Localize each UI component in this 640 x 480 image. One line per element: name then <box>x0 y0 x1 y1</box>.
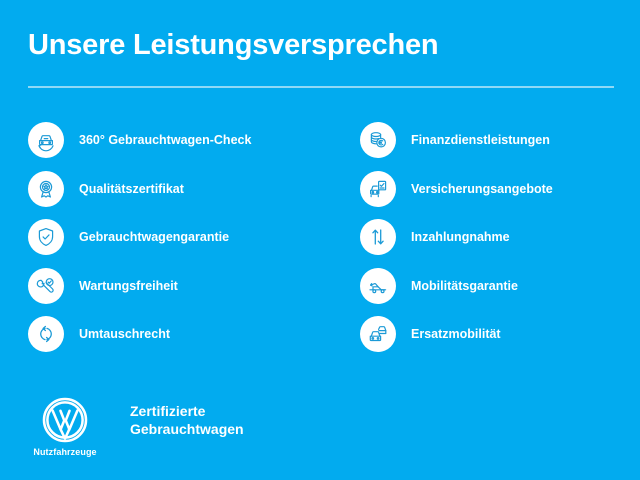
promise-label: Qualitätszertifikat <box>79 181 184 197</box>
promise-item-ersatzmobilitaet[interactable]: Ersatzmobilität <box>360 316 640 352</box>
promise-label: Mobilitätsgarantie <box>411 278 518 294</box>
promise-label: Ersatzmobilität <box>411 326 501 342</box>
car-check-360-icon <box>28 122 64 158</box>
promise-slide: Unsere Leistungsversprechen <box>0 0 640 480</box>
coins-euro-icon <box>360 122 396 158</box>
promise-item-qualitaetszertifikat[interactable]: Qualitätszertifikat <box>28 171 318 207</box>
promises-grid: 360° Gebrauchtwagen-Check Qualitätszerti… <box>0 122 640 370</box>
brand-footer: Nutzfahrzeuge Zertifizierte Gebrauchtwag… <box>28 396 244 458</box>
title-divider <box>28 86 614 88</box>
volkswagen-logo-lockup: Nutzfahrzeuge <box>28 396 102 458</box>
promise-label: Inzahlungnahme <box>411 229 510 245</box>
footer-headline: Zertifizierte Gebrauchtwagen <box>130 402 244 438</box>
car-document-check-icon <box>360 171 396 207</box>
slide-header: Unsere Leistungsversprechen <box>28 26 614 88</box>
vw-wordmark: Nutzfahrzeuge <box>33 447 96 458</box>
promise-item-finanzdienstleistungen[interactable]: Finanzdienstleistungen <box>360 122 640 158</box>
promises-column-right: Finanzdienstleistungen Versicheru <box>360 122 640 365</box>
promise-label: Umtauschrecht <box>79 326 170 342</box>
promises-column-left: 360° Gebrauchtwagen-Check Qualitätszerti… <box>28 122 318 365</box>
award-rosette-icon <box>28 171 64 207</box>
exchange-arrows-icon <box>28 316 64 352</box>
footer-headline-line-1: Zertifizierte <box>130 402 244 420</box>
promise-item-wartungsfreiheit[interactable]: Wartungsfreiheit <box>28 268 318 304</box>
promise-item-mobilitaetsgarantie[interactable]: Mobilitätsgarantie <box>360 268 640 304</box>
promise-item-gebrauchtwagengarantie[interactable]: Gebrauchtwagengarantie <box>28 219 318 255</box>
shield-check-icon <box>28 219 64 255</box>
promise-item-gebrauchtwagen-check[interactable]: 360° Gebrauchtwagen-Check <box>28 122 318 158</box>
two-cars-icon <box>360 316 396 352</box>
page-title: Unsere Leistungsversprechen <box>28 26 614 64</box>
promise-label: Versicherungsangebote <box>411 181 553 197</box>
volkswagen-roundel-logo <box>41 396 89 444</box>
tow-truck-icon <box>360 268 396 304</box>
promise-label: 360° Gebrauchtwagen-Check <box>79 132 251 148</box>
promise-item-inzahlungnahme[interactable]: Inzahlungnahme <box>360 219 640 255</box>
up-down-arrows-icon <box>360 219 396 255</box>
promise-label: Wartungsfreiheit <box>79 278 178 294</box>
promise-item-versicherungsangebote[interactable]: Versicherungsangebote <box>360 171 640 207</box>
wrench-check-icon <box>28 268 64 304</box>
promise-label: Gebrauchtwagengarantie <box>79 229 229 245</box>
footer-headline-line-2: Gebrauchtwagen <box>130 420 244 438</box>
promise-item-umtauschrecht[interactable]: Umtauschrecht <box>28 316 318 352</box>
promise-label: Finanzdienstleistungen <box>411 132 550 148</box>
